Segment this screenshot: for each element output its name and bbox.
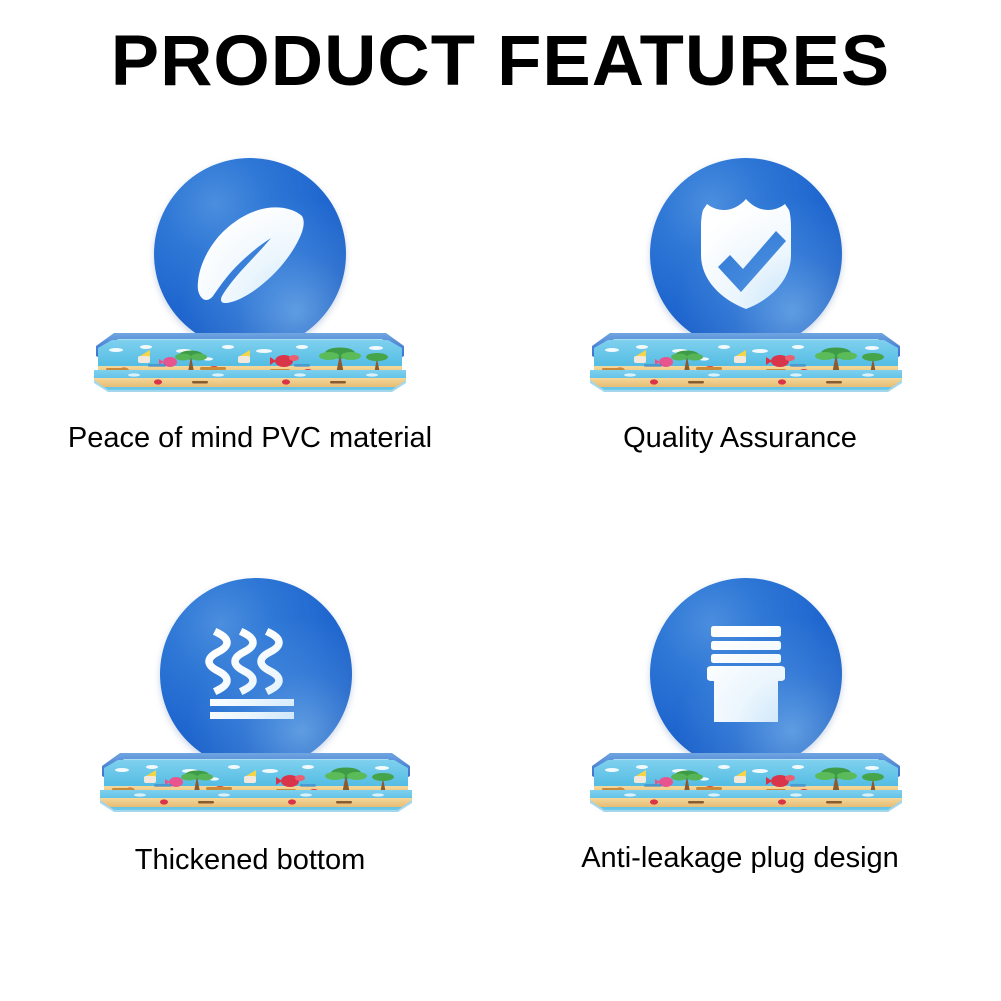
icon-badge-circle — [160, 578, 352, 770]
product-features-page: PRODUCT FEATURES — [0, 0, 1001, 1001]
feature-label: Anti-leakage plug design — [490, 840, 990, 876]
feature-artwork — [496, 150, 996, 415]
inflatable-pool-illustration — [584, 746, 908, 812]
feature-artwork — [0, 150, 500, 415]
icon-badge-circle — [154, 158, 346, 350]
bottle-plug-icon — [650, 578, 842, 770]
feature-artwork — [496, 570, 996, 835]
icon-badge-circle — [650, 578, 842, 770]
feature-label: Quality Assurance — [490, 420, 990, 456]
feature-card-pvc-material[interactable]: Peace of mind PVC material — [0, 150, 500, 550]
feature-card-anti-leakage-plug[interactable]: Anti-leakage plug design — [490, 570, 990, 970]
features-grid: Peace of mind PVC material — [0, 150, 1001, 980]
feature-label: Thickened bottom — [0, 842, 500, 878]
shield-check-icon — [650, 158, 842, 350]
leaf-icon — [154, 158, 346, 350]
inflatable-pool-illustration — [88, 326, 412, 392]
feature-artwork — [6, 570, 506, 835]
icon-badge-circle — [650, 158, 842, 350]
inflatable-pool-illustration — [584, 326, 908, 392]
heat-waves-icon — [160, 578, 352, 770]
feature-card-thickened-bottom[interactable]: Thickened bottom — [0, 570, 500, 970]
inflatable-pool-illustration — [94, 746, 418, 812]
page-title: PRODUCT FEATURES — [0, 22, 1001, 102]
feature-label: Peace of mind PVC material — [0, 420, 500, 456]
feature-card-quality-assurance[interactable]: Quality Assurance — [490, 150, 990, 550]
